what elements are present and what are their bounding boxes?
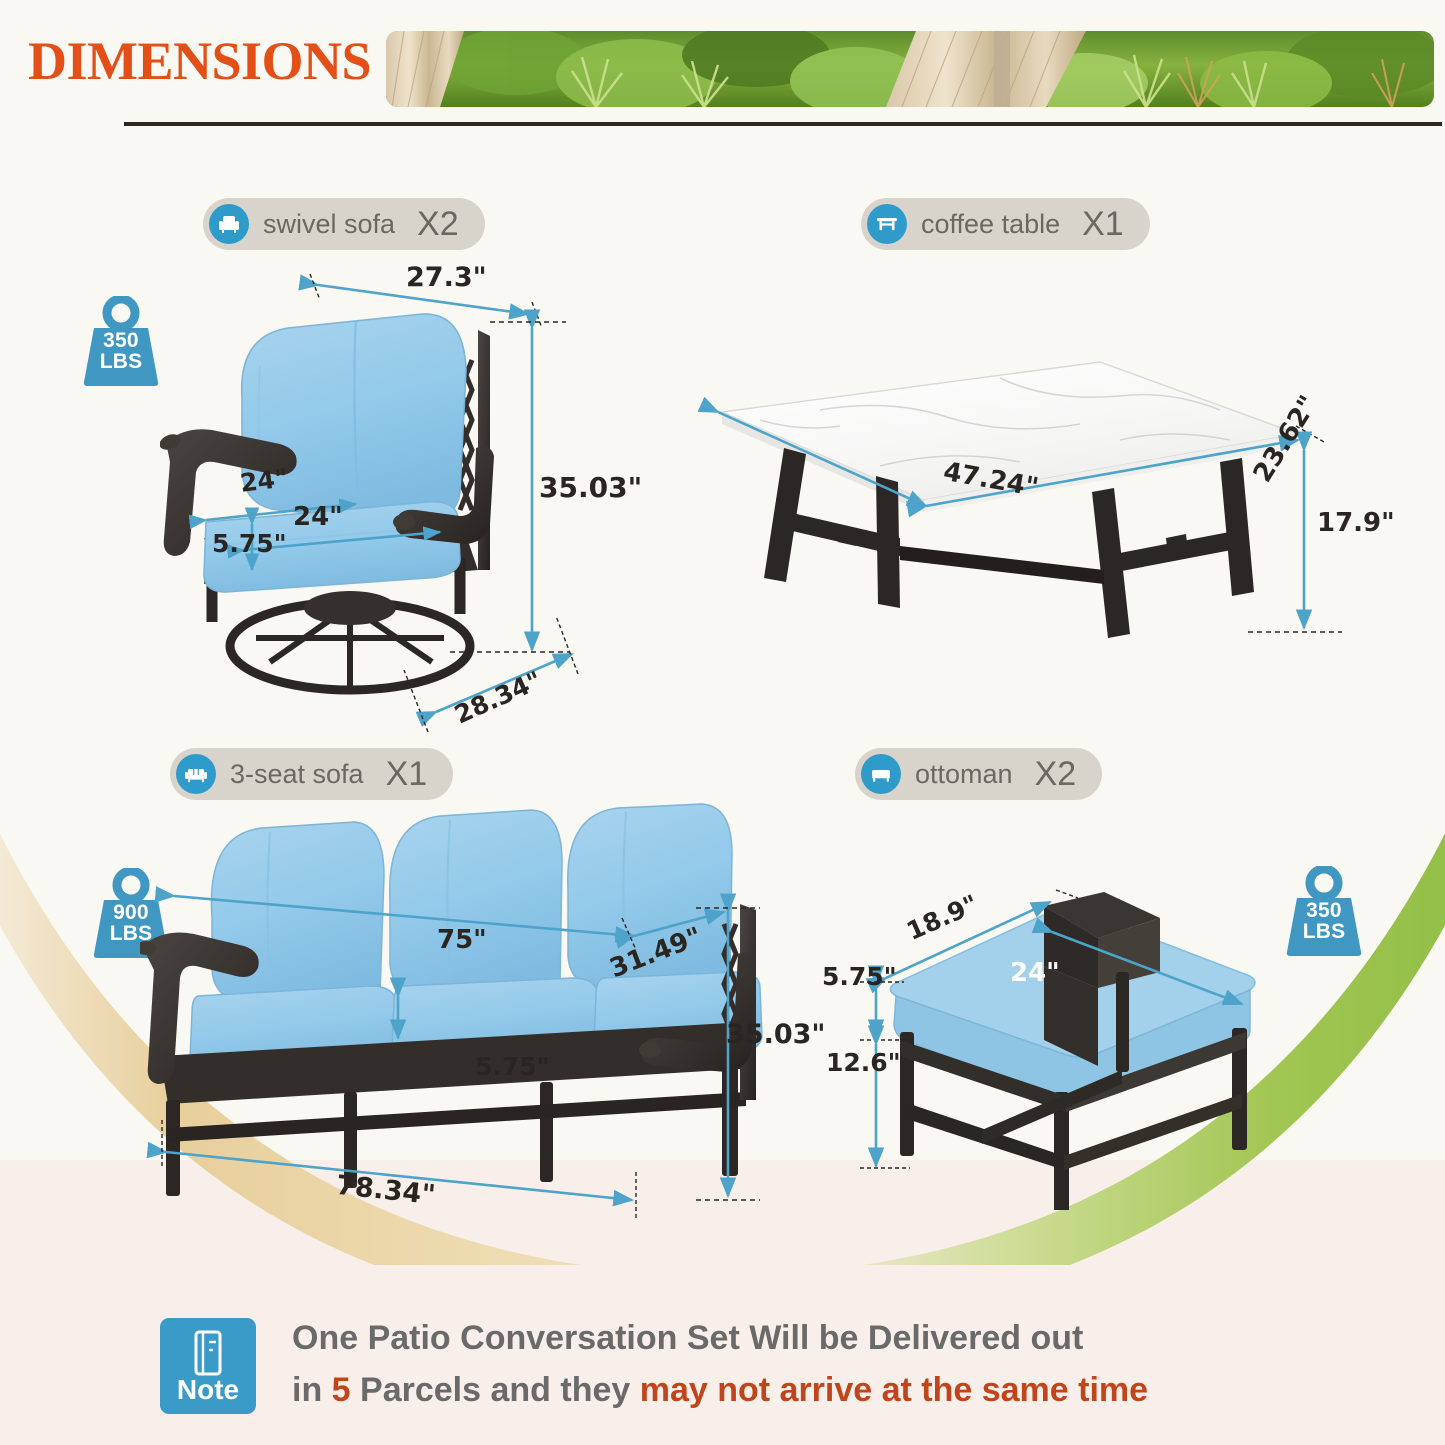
header: DIMENSIONS — [0, 0, 1445, 140]
coffee-table-dimension-lines — [690, 330, 1370, 690]
pill-label: swivel sofa — [263, 209, 395, 240]
pill-quantity: X2 — [417, 205, 459, 244]
note-badge-label: Note — [160, 1374, 256, 1406]
dimension-swivel-cushion: 5.75" — [212, 529, 287, 558]
dimension-table-height: 17.9" — [1317, 508, 1395, 538]
armchair-icon — [209, 204, 249, 244]
pill-quantity: X1 — [386, 755, 428, 794]
dimension-ottoman-frame-height: 12.6" — [826, 1048, 901, 1077]
section-pill-ottoman: ottoman X2 — [855, 748, 1102, 800]
sofa-icon — [176, 754, 216, 794]
pill-label: ottoman — [915, 759, 1013, 790]
pill-label: 3-seat sofa — [230, 759, 364, 790]
dimension-ottoman-width: 24" — [1010, 958, 1060, 988]
dimension-sofa-seating-width: 75" — [437, 925, 487, 955]
page-title: DIMENSIONS — [28, 30, 371, 92]
dimension-swivel-seat-width: 24" — [293, 502, 343, 532]
dimension-swivel-width: 27.3" — [406, 262, 487, 293]
dimension-ottoman-cushion: 5.75" — [822, 962, 897, 991]
note-middle: Parcels and they — [351, 1371, 640, 1409]
table-icon — [867, 204, 907, 244]
pill-label: coffee table — [921, 209, 1060, 240]
note-line-1: One Patio Conversation Set Will be Deliv… — [292, 1312, 1332, 1364]
note-line-2: in 5 Parcels and they may not arrive at … — [292, 1364, 1332, 1416]
header-banner-photo — [386, 31, 1434, 107]
header-divider — [124, 122, 1442, 126]
section-pill-swivel-sofa: swivel sofa X2 — [203, 198, 485, 250]
note-prefix: in — [292, 1371, 332, 1409]
dimension-swivel-height: 35.03" — [539, 471, 642, 504]
note-highlight: may not arrive at the same time — [640, 1371, 1148, 1409]
weight-badge-swivel-sofa: 350 LBS — [78, 296, 164, 388]
infographic-canvas: DIMENSIONS — [0, 0, 1445, 1445]
note-parcel-count: 5 — [332, 1371, 351, 1409]
note-badge: Note — [160, 1318, 256, 1414]
ottoman-icon — [861, 754, 901, 794]
dimension-swivel-seat-depth: 24" — [238, 463, 289, 498]
document-icon — [196, 1332, 220, 1374]
dimension-sofa-cushion: 5.75" — [475, 1052, 550, 1081]
section-pill-coffee-table: coffee table X1 — [861, 198, 1150, 250]
pill-quantity: X1 — [1082, 205, 1124, 244]
dimension-sofa-height: 35.03" — [726, 1019, 825, 1050]
pill-quantity: X2 — [1035, 755, 1077, 794]
note-text: One Patio Conversation Set Will be Deliv… — [292, 1312, 1332, 1416]
